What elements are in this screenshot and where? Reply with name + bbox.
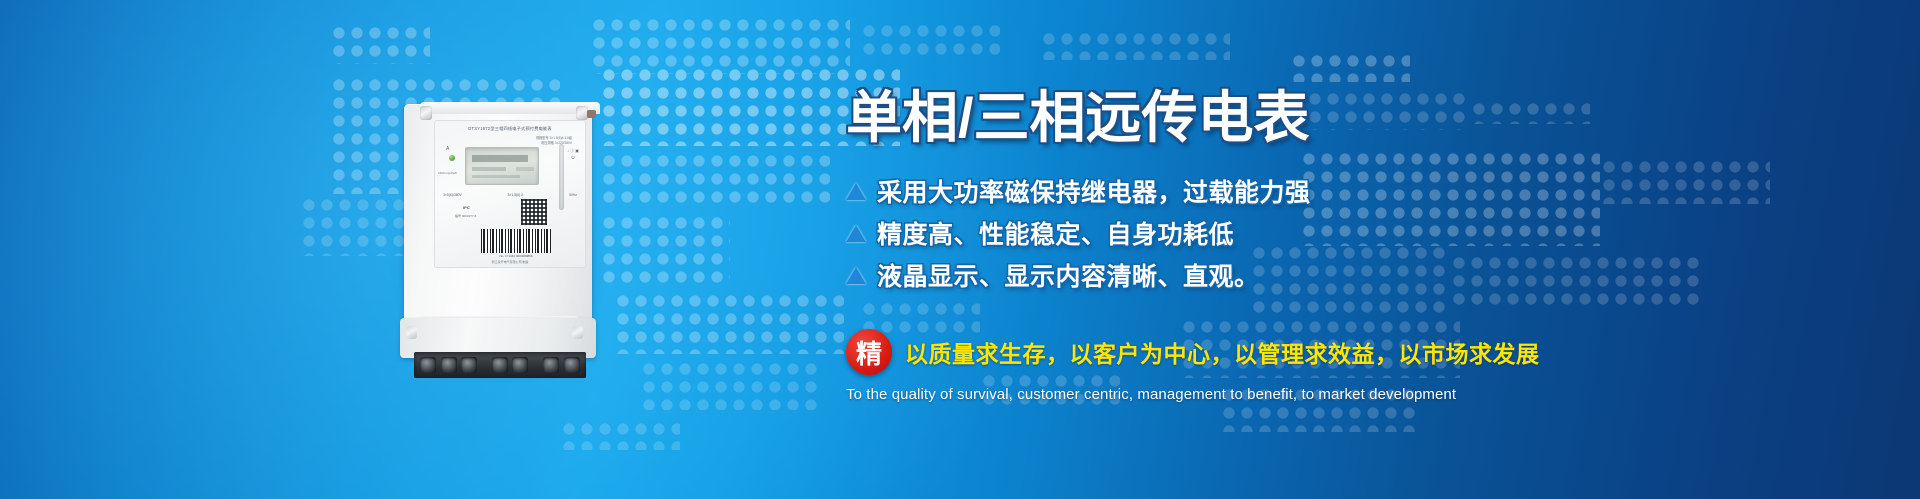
manufacturer-label: 浙江永开电气有限公司 制造	[435, 260, 585, 264]
triangle-up-icon	[846, 267, 866, 284]
status-led-icon	[449, 155, 455, 161]
terminal-hole	[441, 357, 457, 373]
product-image-electric-meter: DTSY1672型三相四线电子式预付费电能表 规格型号 3×1.5(6)A 1.…	[392, 104, 604, 372]
led-label: A	[446, 146, 449, 152]
meter-body: DTSY1672型三相四线电子式预付费电能表 规格型号 3×1.5(6)A 1.…	[404, 104, 592, 326]
product-banner: DTSY1672型三相四线电子式预付费电能表 规格型号 3×1.5(6)A 1.…	[0, 0, 1920, 499]
spec-frequency: 50Hz	[569, 193, 577, 197]
screw-bottom-left-icon	[406, 326, 417, 339]
terminal-hole	[512, 357, 528, 373]
certification-mark: IPC	[463, 205, 470, 210]
feature-list: 采用大功率磁保持继电器，过载能力强 精度高、性能稳定、自身功耗低 液晶显示、显示…	[846, 170, 1546, 296]
banner-title: 单相/三相远传电表	[846, 88, 1546, 148]
pulse-rate-label: 1600 imp/kWh	[438, 171, 457, 175]
feature-text: 采用大功率磁保持继电器，过载能力强	[877, 173, 1311, 209]
screw-top-left-icon	[420, 106, 432, 120]
qr-code-icon	[521, 199, 547, 225]
feature-item-2: 精度高、性能稳定、自身功耗低	[846, 212, 1546, 254]
panel-indicator-icons: ↓ ⓘ ▣ ⏻	[566, 147, 580, 161]
screw-bottom-right-icon	[572, 326, 583, 339]
terminal-hole	[543, 357, 559, 373]
barcode-icon	[481, 229, 551, 253]
triangle-up-icon	[846, 225, 866, 242]
side-vent-slot	[559, 144, 564, 210]
terminal-hole	[564, 357, 580, 373]
meter-top-edge	[420, 102, 600, 114]
slogan-chinese: 以质量求生存，以客户为中心，以管理求效益，以市场求发展	[905, 335, 1540, 369]
seal-tab	[587, 110, 596, 118]
triangle-up-icon	[846, 183, 866, 200]
feature-item-3: 液晶显示、显示内容清晰、直观。	[846, 254, 1546, 296]
slogan-english: To the quality of survival, customer cen…	[846, 386, 1546, 403]
quality-badge: 精	[846, 329, 892, 375]
meter-panel-subtitle: 规格型号 3×1.5(6)A 1.0级 电压规格 3×220/380V	[536, 136, 572, 145]
meter-panel-title: DTSY1672型三相四线电子式预付费电能表	[435, 126, 585, 132]
feature-text: 液晶显示、显示内容清晰、直观。	[877, 257, 1260, 293]
banner-copy: 单相/三相远传电表 采用大功率磁保持继电器，过载能力强 精度高、性能稳定、自身功…	[846, 88, 1546, 403]
feature-text: 精度高、性能稳定、自身功耗低	[877, 215, 1234, 251]
certification-number: 编号 06001T7-6	[455, 214, 476, 218]
barcode-number: No. 171046 0004689866	[481, 254, 551, 258]
terminal-hole	[492, 357, 508, 373]
terminal-block	[414, 352, 586, 378]
slogan-row: 精 以质量求生存，以客户为中心，以管理求效益，以市场求发展	[846, 329, 1546, 375]
meter-spec-row: 3×5(6)/380V 3×1.5(6) A 50Hz	[443, 193, 577, 197]
lcd-display	[465, 147, 539, 185]
terminal-hole	[461, 357, 477, 373]
terminal-hole	[420, 357, 436, 373]
feature-item-1: 采用大功率磁保持继电器，过载能力强	[846, 170, 1546, 212]
spec-voltage: 3×5(6)/380V	[443, 193, 462, 197]
spec-current: 3×1.5(6) A	[508, 193, 524, 197]
